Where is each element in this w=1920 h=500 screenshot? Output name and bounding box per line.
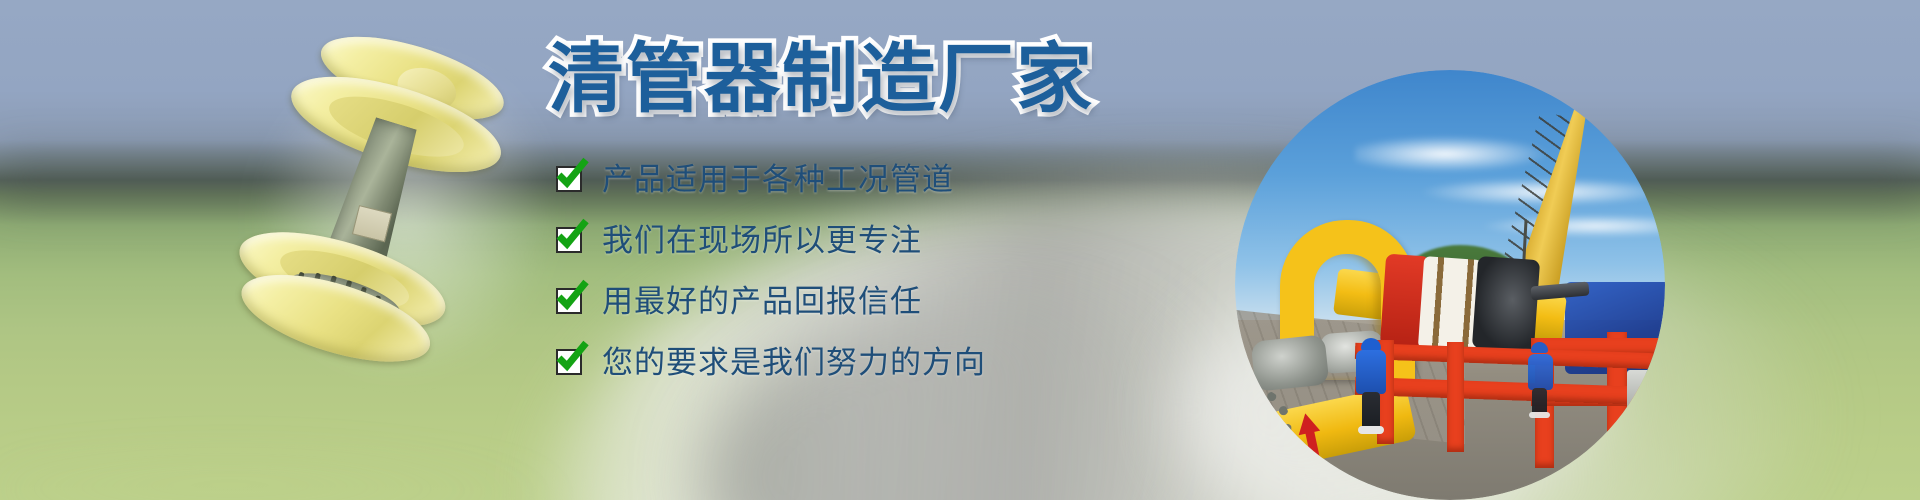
photo-pig-barrel-dark: [1472, 256, 1540, 352]
photo-control-box: [1627, 370, 1655, 410]
photo-shoes: [1358, 426, 1384, 434]
photo-uniform: [1356, 350, 1386, 394]
page-title: 清管器制造厂家: [548, 42, 1094, 118]
photo-helmet: [1531, 342, 1548, 353]
list-item: 用最好的产品回报信任: [556, 280, 986, 322]
checkbox-checked-icon: [556, 227, 582, 253]
feature-label: 您的要求是我们努力的方向: [602, 347, 986, 378]
pipeline-pig-product-photo: [213, 13, 596, 416]
feature-list: 产品适用于各种工况管道 我们在现场所以更专注 用最好的产品回报信任: [556, 158, 986, 383]
promo-banner: 清管器制造厂家 产品适用于各种工况管道 我们在现场所以更专注: [0, 0, 1920, 500]
photo-uniform: [1528, 354, 1553, 390]
photo-worker-main: [1355, 338, 1387, 434]
list-item: 您的要求是我们努力的方向: [556, 341, 986, 383]
list-item: 我们在现场所以更专注: [556, 219, 986, 261]
photo-worker-secondary: [1527, 342, 1553, 416]
photo-shoes: [1529, 412, 1550, 418]
checkbox-checked-icon: [556, 166, 582, 192]
checkbox-checked-icon: [556, 288, 582, 314]
feature-label: 我们在现场所以更专注: [602, 225, 922, 256]
photo-frame-post: [1447, 342, 1464, 452]
feature-label: 产品适用于各种工况管道: [602, 164, 954, 195]
checkbox-checked-icon: [556, 349, 582, 375]
photo-legs: [1362, 392, 1380, 430]
list-item: 产品适用于各种工况管道: [556, 158, 986, 200]
pipeline-pig-launcher-site-photo: [1235, 70, 1665, 500]
feature-label: 用最好的产品回报信任: [602, 286, 922, 317]
